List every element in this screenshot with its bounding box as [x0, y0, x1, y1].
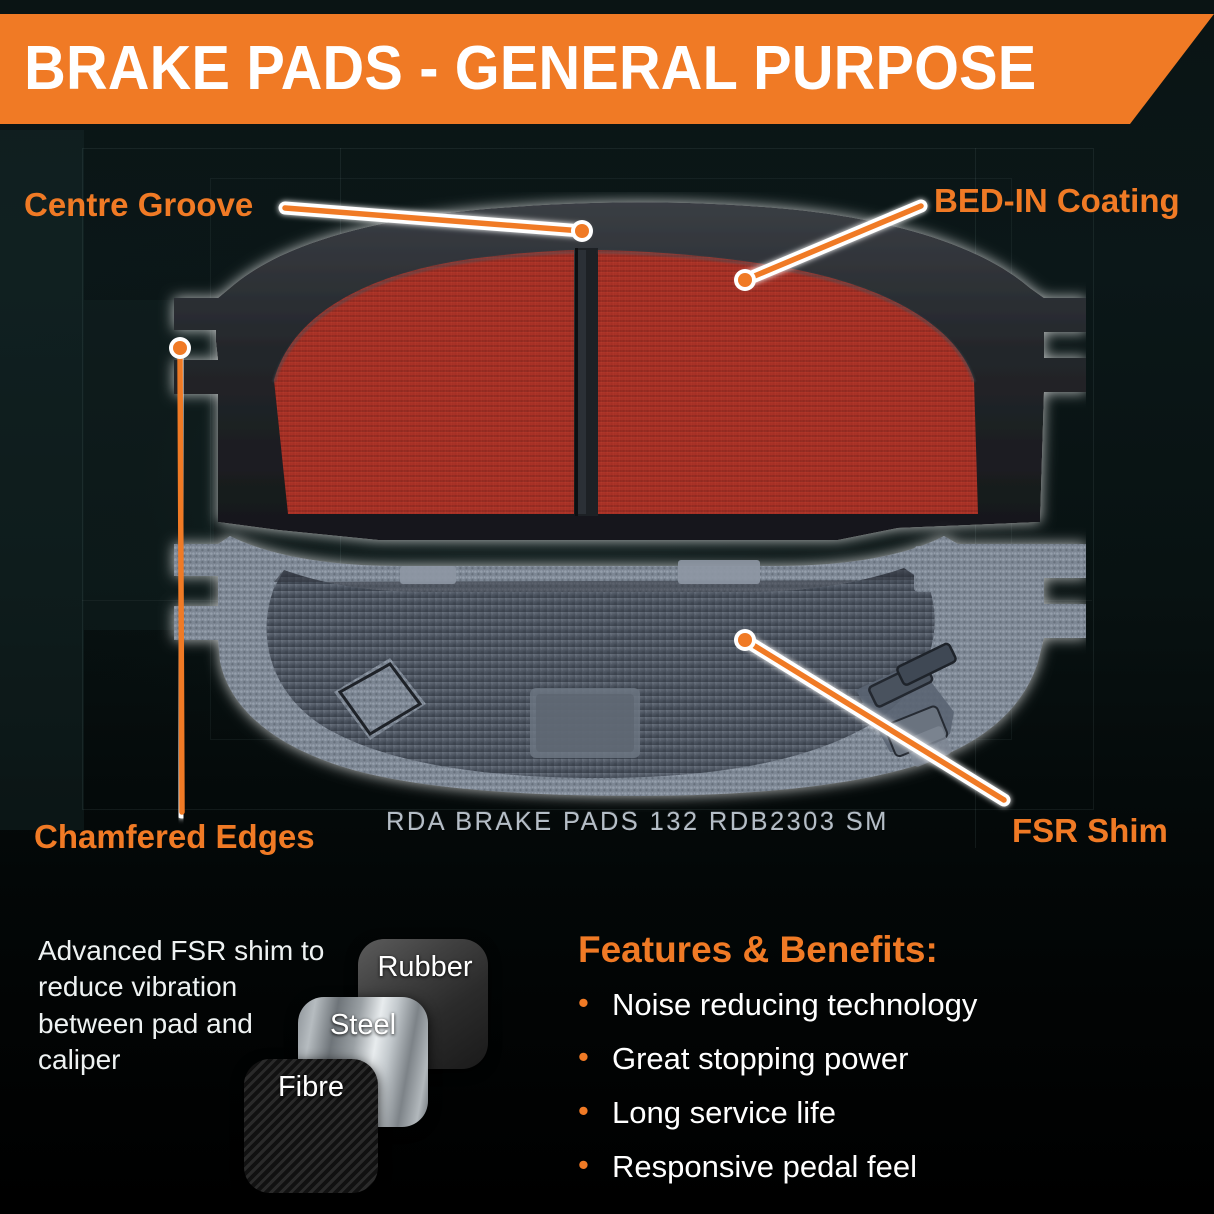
callout-label-fsr-shim: FSR Shim [1012, 812, 1168, 850]
feature-item: Great stopping power [578, 1043, 1178, 1074]
features-benefits-title: Features & Benefits: [578, 929, 1178, 971]
callout-label-bed-in-coating: BED-IN Coating [934, 182, 1180, 220]
shim-layer-fibre-label: Fibre [278, 1059, 344, 1104]
callout-label-centre-groove: Centre Groove [24, 186, 253, 224]
brake-pad-diagram: RDA BRAKE PADS 132 RDB2303 SM [78, 192, 1086, 812]
shim-layer-fibre: Fibre [244, 1059, 378, 1193]
feature-item: Long service life [578, 1097, 1178, 1128]
infographic-canvas: BRAKE PADS - GENERAL PURPOSE [0, 0, 1214, 1214]
centre-groove-slot [575, 248, 598, 516]
shim-layer-rubber-label: Rubber [373, 939, 472, 984]
bottom-section: Advanced FSR shim to reduce vibration be… [0, 905, 1214, 1214]
feature-item: Responsive pedal feel [578, 1151, 1178, 1182]
header-banner: BRAKE PADS - GENERAL PURPOSE [0, 14, 1214, 124]
feature-item: Noise reducing technology [578, 989, 1178, 1020]
callout-label-chamfered-edges: Chamfered Edges [34, 818, 315, 856]
backing-plate-recess [530, 688, 640, 758]
pad-engraving-text: RDA BRAKE PADS 132 RDB2303 SM [386, 808, 889, 837]
brake-pad-illustration [78, 192, 1086, 812]
features-benefits-list: Noise reducing technology Great stopping… [578, 989, 1178, 1182]
page-title: BRAKE PADS - GENERAL PURPOSE [0, 38, 1036, 100]
shim-layer-diagram: Rubber Steel Fibre [238, 935, 508, 1205]
features-benefits-section: Features & Benefits: Noise reducing tech… [578, 929, 1178, 1205]
background-tint-left [0, 130, 84, 830]
shim-layer-steel-label: Steel [330, 997, 396, 1042]
